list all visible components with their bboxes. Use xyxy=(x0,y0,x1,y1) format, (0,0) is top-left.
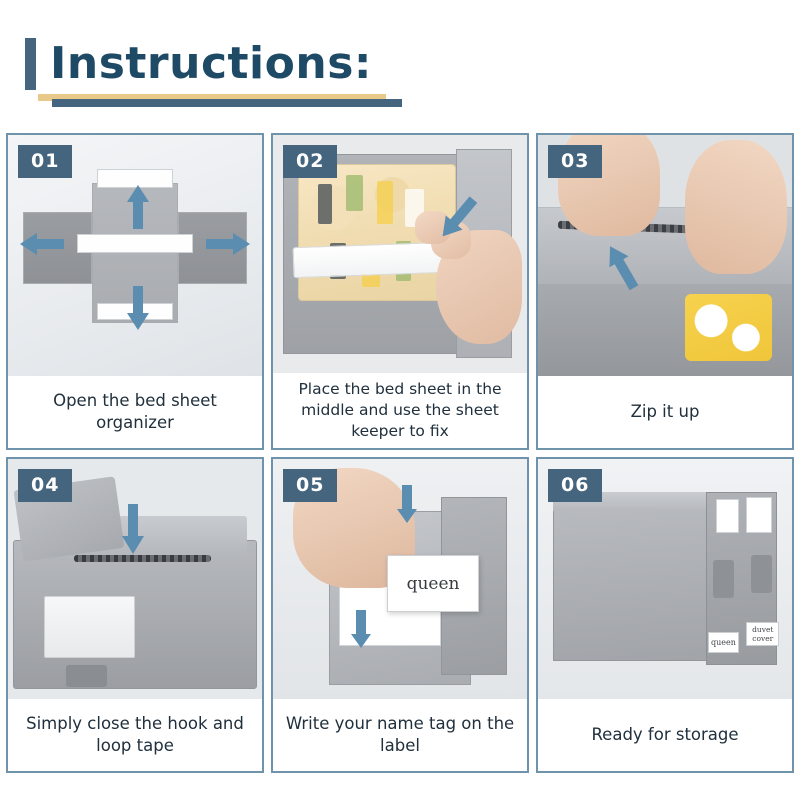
sheet-fabric-peek xyxy=(685,294,771,361)
name-tag-text: queen xyxy=(407,574,460,594)
hand-right xyxy=(685,140,787,275)
arrow-down-icon xyxy=(120,502,146,556)
carry-handle xyxy=(751,555,771,593)
slot-divider xyxy=(746,497,771,533)
step-photo-06: queen duvet cover 06 xyxy=(538,459,792,700)
step-panel-04: 04 Simply close the hook and loop tape xyxy=(6,457,264,774)
label-window xyxy=(44,596,135,659)
step-badge-05: 05 xyxy=(283,469,337,502)
arrow-down-icon xyxy=(125,284,151,332)
title-accent-bar xyxy=(25,38,36,90)
title-underline-blue xyxy=(52,99,402,107)
step-photo-04: 04 xyxy=(8,459,262,700)
step-caption-04: Simply close the hook and loop tape xyxy=(8,699,262,771)
arrow-down-bottom-icon xyxy=(349,608,373,650)
slot-divider xyxy=(716,499,739,533)
step-photo-03: 03 xyxy=(538,135,792,376)
step-badge-04: 04 xyxy=(18,469,72,502)
step-caption-01: Open the bed sheet organizer xyxy=(8,376,262,448)
arrow-right-icon xyxy=(204,231,252,257)
carry-handle xyxy=(66,665,107,687)
arrow-down-top-icon xyxy=(395,483,419,525)
step-caption-02: Place the bed sheet in the middle and us… xyxy=(273,373,527,448)
arrow-left-icon xyxy=(18,231,66,257)
organizer-middle-strip xyxy=(77,234,194,253)
header: Instructions: xyxy=(0,0,800,125)
step-badge-02: 02 xyxy=(283,145,337,178)
step-panel-06: queen duvet cover 06 Ready for storage xyxy=(536,457,794,774)
step-badge-03: 03 xyxy=(548,145,602,178)
step-badge-01: 01 xyxy=(18,145,72,178)
step-caption-06: Ready for storage xyxy=(538,699,792,771)
page-title: Instructions: xyxy=(50,38,372,90)
organizer-box-main xyxy=(553,502,710,661)
sheet-pattern xyxy=(318,184,332,225)
sheet-pattern xyxy=(377,181,393,224)
sheet-pattern xyxy=(346,175,363,210)
box-tag-queen: queen xyxy=(708,632,738,654)
step-panel-05: queen 05 Write your name tag on the labe… xyxy=(271,457,529,774)
carry-handle xyxy=(713,560,733,598)
step-caption-03: Zip it up xyxy=(538,376,792,448)
step-panel-03: 03 Zip it up xyxy=(536,133,794,450)
instructions-infographic: Instructions: xyxy=(0,0,800,800)
step-photo-05: queen 05 xyxy=(273,459,527,700)
step-caption-05: Write your name tag on the label xyxy=(273,699,527,771)
title-block: Instructions: xyxy=(25,38,372,90)
step-badge-06: 06 xyxy=(548,469,602,502)
arrow-up-icon xyxy=(125,183,151,231)
name-tag-card: queen xyxy=(387,555,478,613)
steps-grid: 01 Open the bed sheet organizer xyxy=(6,133,794,773)
step-photo-02: 02 xyxy=(273,135,527,373)
box-tag-duvet-cover: duvet cover xyxy=(746,622,779,646)
step-photo-01: 01 xyxy=(8,135,262,376)
step-panel-01: 01 Open the bed sheet organizer xyxy=(6,133,264,450)
step-panel-02: 02 Place the bed sheet in the middle and… xyxy=(271,133,529,450)
